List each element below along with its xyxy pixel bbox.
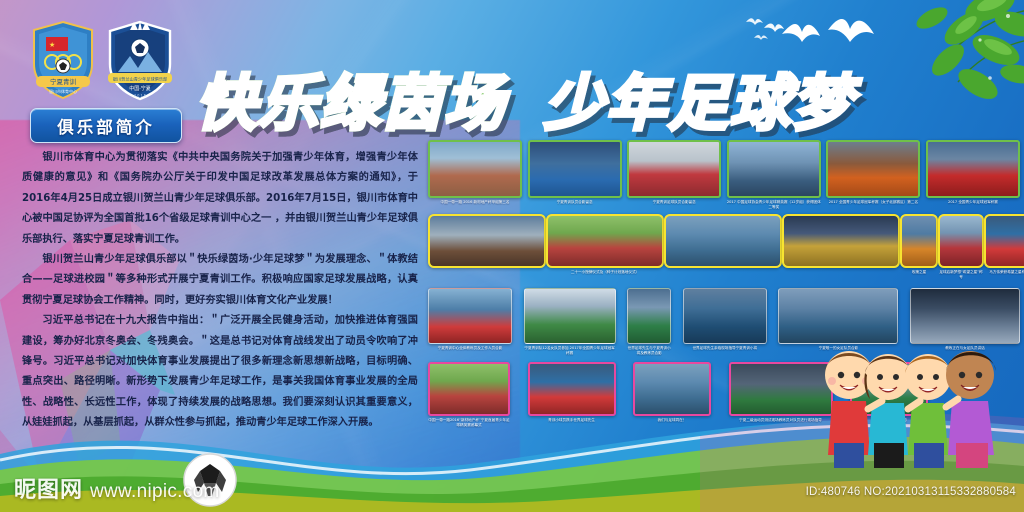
photo-cell[interactable]: 宁夏二级运动员测试现场教练员对队员进行现场指导 bbox=[729, 362, 833, 428]
svg-text:银川贺兰山青少年足球俱乐部: 银川贺兰山青少年足球俱乐部 bbox=[113, 76, 167, 83]
emblem-helanshan-club-icon: 银川贺兰山青少年足球俱乐部 中国·宁夏 2 0 1 6 bbox=[104, 18, 176, 102]
photo-row: 中国一带一路 2016 新材地产杯甲组第三名 宁夏青训队员合影留念 宁夏青训足球… bbox=[428, 140, 1020, 210]
photo-thumbnail[interactable] bbox=[428, 140, 522, 198]
site-watermark: 昵图网 www.nipic.com bbox=[14, 472, 220, 504]
photo-cell[interactable]: 世界足球先生亲临现场指导宁夏青训小将 bbox=[683, 288, 767, 356]
photo-caption: 我们与足球同在！ bbox=[633, 418, 711, 423]
article-paragraph: 习近平总书记在十九大报告中指出：＂广泛开展全民健身活动，加快推进体育强国建设，筹… bbox=[22, 311, 418, 433]
photo-thumbnail[interactable] bbox=[683, 288, 767, 344]
photo-cell[interactable]: 中国一带一路 2016 新材地产杯甲组第三名 bbox=[428, 140, 522, 210]
photo-caption: 世界足球先生亲临现场指导宁夏青训小将 bbox=[683, 346, 767, 351]
svg-text:2 0 1 6: 2 0 1 6 bbox=[134, 94, 146, 98]
photo-cell[interactable]: 2017 中国足球协会青少年足球精英赛（12岁组）获得团体二等奖 bbox=[727, 140, 821, 210]
photo-caption: 青训小球员携手世界足球先生 bbox=[528, 418, 616, 423]
photo-cell[interactable]: 足球启新梦想“希望之星”称号 bbox=[938, 214, 984, 280]
club-introduction-article: 银川市体育中心为贯彻落实《中共中央国务院关于加强青少年体育，增强青少年体质健康的… bbox=[22, 148, 418, 448]
site-url: www.nipic.com bbox=[90, 481, 220, 503]
photo-thumbnail[interactable] bbox=[627, 140, 721, 198]
emblem-ningxia-training-icon: ★ 宁夏青训 银川市体育中心 bbox=[30, 20, 96, 100]
article-paragraph: 银川贺兰山青少年足球俱乐部以＂快乐绿茵场·少年足球梦＂为发展理念、＂体教结合——… bbox=[22, 250, 418, 311]
photo-row: 二十一小授牌仪式及（种子计划落地仪式） 玫瑰之星 足球启新梦想“希望之星”称号 … bbox=[428, 214, 1020, 280]
photo-thumbnail[interactable] bbox=[546, 214, 664, 268]
section-badge-club-intro: 俱乐部简介 bbox=[30, 108, 182, 143]
site-name-cn: 昵图网 bbox=[14, 472, 83, 504]
photo-thumbnail[interactable] bbox=[778, 288, 898, 344]
photo-thumbnail[interactable] bbox=[782, 214, 900, 268]
photo-thumbnail[interactable] bbox=[900, 214, 938, 268]
cartoon-children-illustration bbox=[822, 343, 1014, 468]
photo-thumbnail[interactable] bbox=[528, 362, 616, 416]
photo-cell[interactable] bbox=[428, 214, 546, 280]
photo-thumbnail[interactable] bbox=[984, 214, 1024, 268]
photo-caption: 玫瑰之星 bbox=[900, 270, 938, 275]
photo-thumbnail[interactable] bbox=[910, 288, 1020, 344]
article-paragraph: 银川市体育中心为贯彻落实《中共中央国务院关于加强青少年体育，增强青少年体质健康的… bbox=[22, 148, 418, 250]
photo-cell[interactable]: 玫瑰之星 bbox=[900, 214, 938, 280]
photo-cell[interactable]: 2017 全国青少年足球冠军杯赛（女子北部赛区）第二名 bbox=[826, 140, 920, 210]
photo-caption: 2017 全国青少年足球冠军杯赛（女子北部赛区）第二名 bbox=[826, 200, 920, 205]
photo-caption: 足球启新梦想“希望之星”称号 bbox=[938, 270, 984, 280]
poster-canvas: ★ 宁夏青训 银川市体育中心 银川贺兰山青少年足球俱乐部 bbox=[0, 0, 1024, 512]
section-badge-label: 俱乐部简介 bbox=[57, 114, 155, 138]
photo-caption: 二十一小授牌仪式及（种子计划落地仪式） bbox=[546, 270, 664, 275]
photo-cell[interactable]: 青训小球员携手世界足球先生 bbox=[528, 362, 616, 428]
asset-id-tag: ID:480746 NO:20210313115332880584 bbox=[806, 486, 1016, 498]
photo-thumbnail[interactable] bbox=[627, 288, 671, 344]
photo-caption: 2017 中国足球协会青少年足球精英赛（12岁组）获得团体二等奖 bbox=[727, 200, 821, 210]
svg-text:★: ★ bbox=[49, 41, 55, 49]
photo-caption: 2017 全国青少年足球冠军杯赛 bbox=[926, 200, 1020, 205]
photo-thumbnail[interactable] bbox=[729, 362, 833, 416]
photo-caption: 马方伟荣获希望之星称号 bbox=[984, 270, 1024, 275]
club-emblems: ★ 宁夏青训 银川市体育中心 银川贺兰山青少年足球俱乐部 bbox=[22, 20, 182, 104]
photo-cell[interactable]: 我们与足球同在！ bbox=[633, 362, 711, 428]
photo-thumbnail[interactable] bbox=[428, 362, 510, 416]
photo-cell[interactable] bbox=[664, 214, 782, 280]
photo-caption: 宁夏二级运动员测试现场教练员对队员进行现场指导 bbox=[729, 418, 833, 423]
photo-thumbnail[interactable] bbox=[664, 214, 782, 268]
svg-text:宁夏青训: 宁夏青训 bbox=[50, 77, 76, 86]
photo-cell[interactable]: 世界足球先生与宁夏青训小将及教练员合影 bbox=[627, 288, 671, 356]
photo-cell[interactable] bbox=[782, 214, 900, 280]
photo-thumbnail[interactable] bbox=[528, 140, 622, 198]
photo-thumbnail[interactable] bbox=[826, 140, 920, 198]
photo-cell[interactable]: 宁夏青训中心全体教练员及工作人员合影 bbox=[428, 288, 512, 356]
photo-caption: 宁夏青训中心全体教练员及工作人员合影 bbox=[428, 346, 512, 351]
photo-cell[interactable]: 马方伟荣获希望之星称号 bbox=[984, 214, 1024, 280]
photo-cell[interactable]: 中国一带一路2016“新材地产杯”宁夏首届青少年足球精英赛闭幕式 bbox=[428, 362, 510, 428]
photo-thumbnail[interactable] bbox=[524, 288, 616, 344]
photo-caption: 宁夏青训队12名女队员参加 2017年全国青少年足球冠军杯赛 bbox=[524, 346, 616, 356]
photo-cell[interactable]: 宁夏青训队员合影留念 bbox=[528, 140, 622, 210]
photo-thumbnail[interactable] bbox=[938, 214, 984, 268]
photo-caption: 宁夏青训足球队员合影留念 bbox=[627, 200, 721, 205]
headline-part-one: 快乐绿茵场 bbox=[196, 55, 506, 142]
photo-caption: 宁夏青训队员合影留念 bbox=[528, 200, 622, 205]
svg-text:银川市体育中心: 银川市体育中心 bbox=[49, 88, 77, 94]
poster-headline: 快乐绿茵场 少年足球梦 bbox=[196, 58, 916, 138]
photo-cell[interactable]: 二十一小授牌仪式及（种子计划落地仪式） bbox=[546, 214, 664, 280]
footer-watermark-bar: 昵图网 www.nipic.com ID:480746 NO:202103131… bbox=[0, 462, 1024, 512]
photo-cell[interactable]: 宁夏青训足球队员合影留念 bbox=[627, 140, 721, 210]
photo-thumbnail[interactable] bbox=[633, 362, 711, 416]
photo-thumbnail[interactable] bbox=[926, 140, 1020, 198]
photo-thumbnail[interactable] bbox=[428, 288, 512, 344]
photo-caption: 中国一带一路2016“新材地产杯”宁夏首届青少年足球精英赛闭幕式 bbox=[428, 418, 510, 428]
photo-caption: 中国一带一路 2016 新材地产杯甲组第三名 bbox=[428, 200, 522, 205]
svg-text:中国·宁夏: 中国·宁夏 bbox=[129, 85, 151, 92]
photo-cell[interactable]: 宁夏青训队12名女队员参加 2017年全国青少年足球冠军杯赛 bbox=[524, 288, 616, 356]
photo-thumbnail[interactable] bbox=[428, 214, 546, 268]
photo-thumbnail[interactable] bbox=[727, 140, 821, 198]
photo-caption: 世界足球先生与宁夏青训小将及教练员合影 bbox=[627, 346, 671, 356]
headline-part-two: 少年足球梦 bbox=[544, 55, 854, 142]
photo-cell[interactable]: 2017 全国青少年足球冠军杯赛 bbox=[926, 140, 1020, 210]
